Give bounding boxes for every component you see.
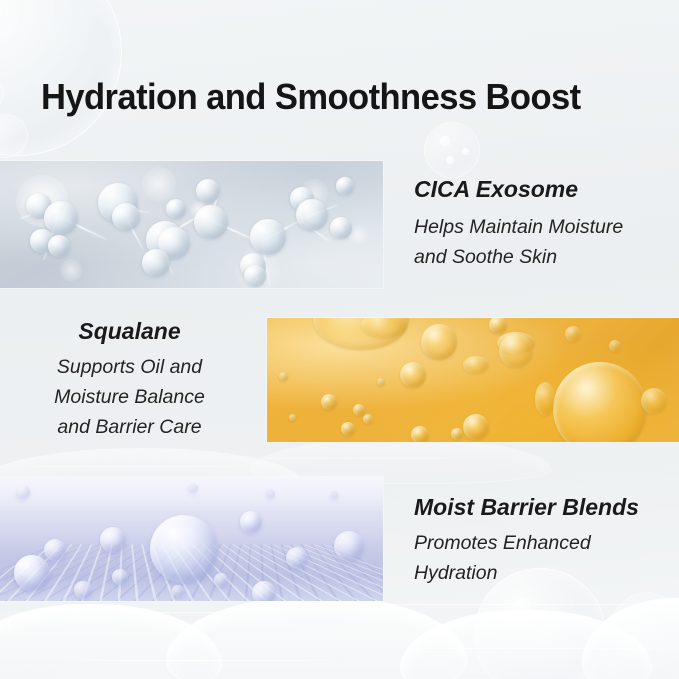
foam-bubble-1 (0, 604, 222, 679)
foam-streak-2 (330, 604, 679, 605)
feature-description-squalane: Supports Oil and Moisture Balance and Ba… (20, 352, 239, 442)
bubble-decor-small-b (0, 114, 28, 158)
feature-description-moist-barrier-blends: Promotes Enhanced Hydration (414, 528, 669, 588)
page-title: Hydration and Smoothness Boost (41, 76, 581, 118)
feature-block-moist-barrier-blends: Moist Barrier Blends Promotes Enhanced H… (414, 494, 669, 588)
feature-block-squalane: Squalane Supports Oil and Moisture Balan… (20, 318, 239, 442)
feature-description-cica-exosome: Helps Maintain Moisture and Soothe Skin (414, 212, 664, 272)
description-line: Moisture Balance (20, 382, 239, 412)
feature-heading-cica-exosome: CICA Exosome (414, 176, 664, 202)
feature-heading-squalane: Squalane (20, 318, 239, 344)
foam-bubble-2 (166, 596, 468, 679)
bubble-decor-small-a (0, 76, 4, 110)
molecule-structure-image (0, 161, 383, 288)
bubble-decor-speck-b (462, 148, 469, 155)
description-line: and Barrier Care (20, 412, 239, 442)
feature-block-cica-exosome: CICA Exosome Helps Maintain Moisture and… (414, 176, 664, 272)
description-line: and Soothe Skin (414, 242, 664, 272)
feature-heading-moist-barrier-blends: Moist Barrier Blends (414, 494, 669, 520)
foam-bubble-3 (400, 610, 652, 679)
bubble-decor-speck-d (516, 598, 530, 612)
foam-streak-1 (0, 612, 300, 613)
foam-streak-4 (398, 648, 679, 649)
bubble-decor-speck-e (546, 612, 555, 621)
description-line: Helps Maintain Moisture (414, 212, 664, 242)
foam-bubble-4 (582, 598, 679, 679)
foam-streak-5 (0, 466, 250, 467)
foam-streak-6 (240, 458, 480, 459)
foam-streak-3 (60, 660, 340, 661)
bubble-decor-speck-c (446, 156, 454, 164)
bubble-decor-bottom-right-2 (604, 592, 679, 679)
description-line: Supports Oil and (20, 352, 239, 382)
golden-oil-bubbles-image (267, 318, 679, 442)
bubble-decor-speck-a (440, 136, 450, 146)
bubble-decor-under-title (424, 122, 480, 178)
description-line: Promotes Enhanced (414, 528, 669, 558)
lavender-mesh-droplets-image (0, 477, 383, 601)
product-feature-poster: Hydration and Smoothness Boost (0, 0, 679, 679)
description-line: Hydration (414, 558, 669, 588)
